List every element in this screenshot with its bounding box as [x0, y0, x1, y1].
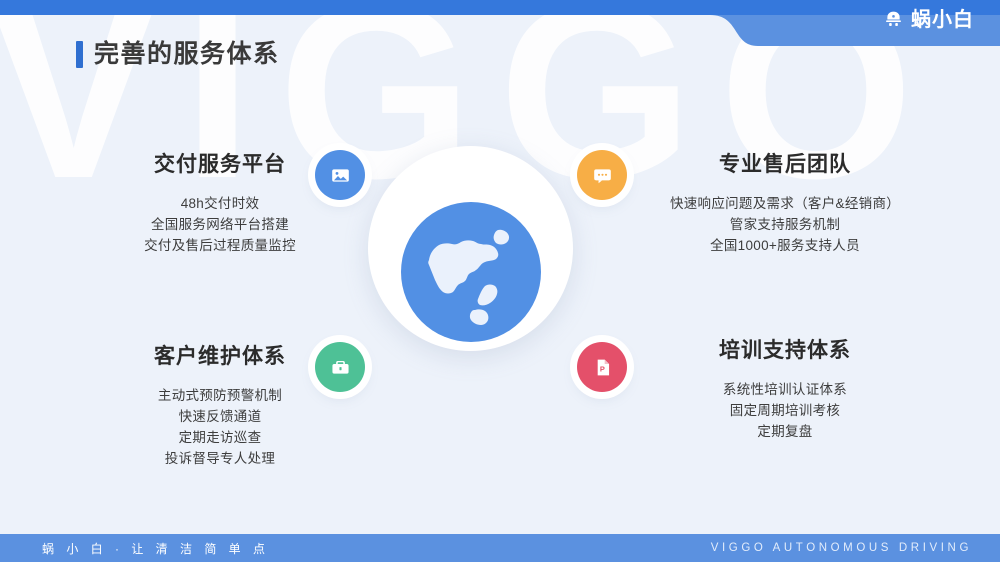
- block-line: 管家支持服务机制: [620, 214, 950, 235]
- page-title: 完善的服务体系: [76, 41, 280, 68]
- block-line: 全国服务网络平台搭建: [60, 214, 380, 235]
- brand-logo-text: 蜗小白: [911, 9, 974, 30]
- block-line: 全国1000+服务支持人员: [620, 235, 950, 256]
- brand-logo[interactable]: 蜗小白: [883, 9, 974, 30]
- image-icon: [330, 165, 351, 186]
- node-aftersales-team[interactable]: [577, 150, 627, 200]
- snail-logo-icon: [883, 9, 904, 30]
- block-line: 定期走访巡查: [60, 427, 380, 448]
- node-delivery-platform[interactable]: [315, 150, 365, 200]
- briefcase-icon: [330, 357, 351, 378]
- block-line: 固定周期培训考核: [625, 400, 945, 421]
- footer-slogan: 蜗 小 白 · 让 清 洁 简 单 点: [42, 540, 270, 557]
- block-line: 投诉督导专人处理: [60, 448, 380, 469]
- block-training-support: 培训支持体系 系统性培训认证体系 固定周期培训考核 定期复盘: [625, 334, 945, 442]
- block-line: 快速响应问题及需求（客户&经销商）: [620, 193, 950, 214]
- block-line: 系统性培训认证体系: [625, 379, 945, 400]
- block-line: 定期复盘: [625, 421, 945, 442]
- node-customer-maintenance[interactable]: [315, 342, 365, 392]
- node-training-support[interactable]: P: [577, 342, 627, 392]
- block-title: 培训支持体系: [625, 334, 945, 364]
- block-line: 交付及售后过程质量监控: [60, 235, 380, 256]
- block-aftersales-team: 专业售后团队 快速响应问题及需求（客户&经销商） 管家支持服务机制 全国1000…: [620, 148, 950, 256]
- block-line: 快速反馈通道: [60, 406, 380, 427]
- title-accent-bar: [76, 41, 83, 68]
- top-accent-strip: [0, 0, 1000, 15]
- chat-bubble-icon: [592, 165, 613, 186]
- slide-canvas: VIGGO 蜗小白 完善的服务体系: [0, 0, 1000, 562]
- document-icon: P: [592, 357, 613, 378]
- footer-brand-en: VIGGO AUTONOMOUS DRIVING: [711, 542, 972, 554]
- globe-icon: [401, 202, 541, 342]
- svg-text:P: P: [599, 364, 604, 373]
- block-title: 专业售后团队: [620, 148, 950, 178]
- footer-bar: 蜗 小 白 · 让 清 洁 简 单 点 VIGGO AUTONOMOUS DRI…: [0, 534, 1000, 562]
- page-title-text: 完善的服务体系: [94, 42, 280, 67]
